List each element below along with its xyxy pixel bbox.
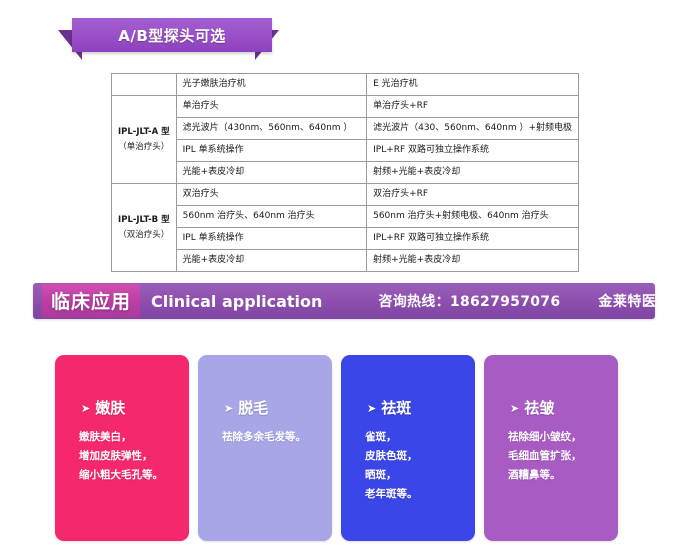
cell-a: 双治疗头: [176, 184, 366, 206]
card-title: ➤祛斑: [341, 397, 475, 418]
cell-b: 单治疗头+RF: [367, 96, 579, 118]
card-hair-removal[interactable]: ➤脱毛 祛除多余毛发等。: [198, 355, 332, 541]
table-header-machine-a: 光子嫩肤治疗机: [176, 74, 366, 96]
card-desc-line: 嫩肤美白，: [79, 428, 189, 447]
card-desc-line: 增加皮肤弹性，: [79, 447, 189, 466]
card-description: 祛除细小皱纹， 毛细血管扩张， 酒糟鼻等。: [484, 428, 618, 485]
model-cell-b: IPL-JLT-B 型 （双治疗头）: [112, 184, 177, 272]
product-spec-page: A/B型探头可选 光子嫩肤治疗机 E 光治疗机 IPL-JLT-A 型 （单治疗…: [0, 0, 689, 553]
card-desc-line: 晒斑，: [365, 466, 475, 485]
ribbon-body: A/B型探头可选: [72, 18, 272, 52]
table-header-machine-b: E 光治疗机: [367, 74, 579, 96]
arrow-icon: ➤: [81, 402, 90, 415]
card-desc-line: 毛细血管扩张，: [508, 447, 618, 466]
table-row: 光能+表皮冷却 射频+光能+表皮冷却: [112, 250, 579, 272]
model-name-b: IPL-JLT-B 型: [118, 213, 170, 228]
cell-b: 双治疗头+RF: [367, 184, 579, 206]
arrow-icon: ➤: [367, 402, 376, 415]
cell-b: IPL+RF 双路可独立操作系统: [367, 228, 579, 250]
table-row: IPL 单系统操作 IPL+RF 双路可独立操作系统: [112, 140, 579, 162]
card-title: ➤嫩肤: [55, 397, 189, 418]
arrow-icon: ➤: [510, 402, 519, 415]
card-desc-line: 皮肤色斑，: [365, 447, 475, 466]
hotline-text: 咨询热线：18627957076: [378, 291, 560, 311]
cell-a: 光能+表皮冷却: [176, 162, 366, 184]
cell-b: 560nm 治疗头+射频电极、640nm 治疗头: [367, 206, 579, 228]
model-name-a: IPL-JLT-A 型: [118, 125, 170, 140]
clinical-badge: 临床应用: [42, 284, 140, 318]
cell-b: 滤光波片（430、560nm、640nm ）+射频电极: [367, 118, 579, 140]
table-row: IPL-JLT-B 型 （双治疗头） 双治疗头 双治疗头+RF: [112, 184, 579, 206]
cell-a: IPL 单系统操作: [176, 228, 366, 250]
cell-a: 单治疗头: [176, 96, 366, 118]
card-skin-rejuvenation[interactable]: ➤嫩肤 嫩肤美白， 增加皮肤弹性， 缩小粗大毛孔等。: [55, 355, 189, 541]
card-title: ➤祛皱: [484, 397, 618, 418]
cell-b: 射频+光能+表皮冷却: [367, 250, 579, 272]
card-desc-line: 祛除多余毛发等。: [222, 428, 332, 447]
card-title: ➤脱毛: [198, 397, 332, 418]
cell-a: IPL 单系统操作: [176, 140, 366, 162]
card-desc-line: 祛除细小皱纹，: [508, 428, 618, 447]
card-description: 雀斑， 皮肤色斑， 晒斑， 老年斑等。: [341, 428, 475, 504]
card-title-text: 嫩肤: [95, 399, 125, 417]
clinical-english-label: Clinical application: [151, 292, 322, 311]
cell-a: 560nm 治疗头、640nm 治疗头: [176, 206, 366, 228]
brand-name: 金莱特医疗: [598, 291, 671, 311]
specification-table: 光子嫩肤治疗机 E 光治疗机 IPL-JLT-A 型 （单治疗头） 单治疗头 单…: [111, 73, 579, 272]
card-desc-line: 老年斑等。: [365, 485, 475, 504]
card-description: 祛除多余毛发等。: [198, 428, 332, 447]
cell-a: 滤光波片（430nm、560nm、640nm ）: [176, 118, 366, 140]
table-row: 光能+表皮冷却 射频+光能+表皮冷却: [112, 162, 579, 184]
table-header-row: 光子嫩肤治疗机 E 光治疗机: [112, 74, 579, 96]
application-cards: ➤嫩肤 嫩肤美白， 增加皮肤弹性， 缩小粗大毛孔等。 ➤脱毛 祛除多余毛发等。 …: [55, 355, 636, 541]
table-row: IPL 单系统操作 IPL+RF 双路可独立操作系统: [112, 228, 579, 250]
arrow-icon: ➤: [224, 402, 233, 415]
cell-a: 光能+表皮冷却: [176, 250, 366, 272]
ribbon-title: A/B型探头可选: [118, 25, 226, 46]
table-row: 滤光波片（430nm、560nm、640nm ） 滤光波片（430、560nm、…: [112, 118, 579, 140]
card-desc-line: 缩小粗大毛孔等。: [79, 466, 189, 485]
model-cell-a: IPL-JLT-A 型 （单治疗头）: [112, 96, 177, 184]
table-corner-cell: [112, 74, 177, 96]
cell-b: IPL+RF 双路可独立操作系统: [367, 140, 579, 162]
cell-b: 射频+光能+表皮冷却: [367, 162, 579, 184]
clinical-application-banner: 临床应用 Clinical application 咨询热线：186279570…: [33, 283, 655, 319]
card-wrinkle-removal[interactable]: ➤祛皱 祛除细小皱纹， 毛细血管扩张， 酒糟鼻等。: [484, 355, 618, 541]
table-row: IPL-JLT-A 型 （单治疗头） 单治疗头 单治疗头+RF: [112, 96, 579, 118]
model-sub-a: （单治疗头）: [118, 140, 170, 155]
table-row: 560nm 治疗头、640nm 治疗头 560nm 治疗头+射频电极、640nm…: [112, 206, 579, 228]
card-desc-line: 酒糟鼻等。: [508, 466, 618, 485]
card-spot-removal[interactable]: ➤祛斑 雀斑， 皮肤色斑， 晒斑， 老年斑等。: [341, 355, 475, 541]
card-title-text: 祛斑: [381, 399, 411, 417]
model-sub-b: （双治疗头）: [118, 228, 170, 243]
card-title-text: 祛皱: [524, 399, 554, 417]
card-description: 嫩肤美白， 增加皮肤弹性， 缩小粗大毛孔等。: [55, 428, 189, 485]
card-title-text: 脱毛: [238, 399, 268, 417]
card-desc-line: 雀斑，: [365, 428, 475, 447]
